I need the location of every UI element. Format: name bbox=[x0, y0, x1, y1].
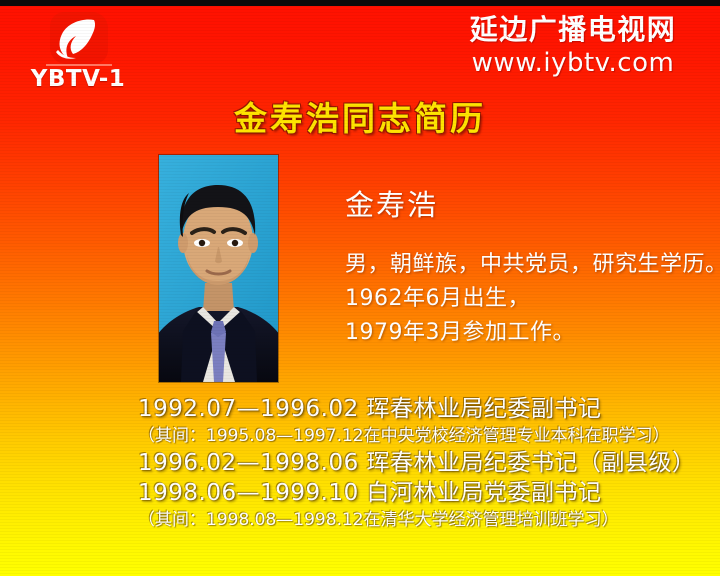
portrait-photo bbox=[159, 155, 278, 382]
career-entry-note: （其间：1995.08—1997.12在中央党校经济管理专业本科在职学习） bbox=[138, 424, 708, 448]
bio-line: 1962年6月出生， bbox=[345, 282, 715, 316]
swoosh-shape-icon bbox=[54, 18, 104, 60]
channel-logo: YBTV-1 bbox=[22, 12, 134, 94]
career-entry: 1996.02—1998.06 珲春林业局纪委书记（副县级） bbox=[138, 448, 708, 478]
bio-line: 男，朝鲜族，中共党员，研究生学历。 bbox=[345, 248, 715, 282]
ybtv-swoosh-logo-icon bbox=[50, 12, 108, 64]
career-history-list: 1992.07—1996.02 珲春林业局纪委副书记 （其间：1995.08—1… bbox=[138, 394, 708, 532]
career-entry: 1998.06—1999.10 白河林业局党委副书记 bbox=[138, 478, 708, 508]
tv-broadcast-frame: YBTV-1 延边广播电视网 www.iybtv.com 金寿浩同志简历 bbox=[0, 0, 720, 576]
top-black-bar bbox=[0, 0, 720, 6]
network-url: www.iybtv.com bbox=[448, 48, 698, 78]
portrait-illustration bbox=[159, 155, 278, 382]
channel-logo-label: YBTV-1 bbox=[22, 66, 134, 92]
bio-block: 男，朝鲜族，中共党员，研究生学历。 1962年6月出生， 1979年3月参加工作… bbox=[345, 248, 715, 350]
network-name-cn: 延边广播电视网 bbox=[448, 14, 698, 46]
bio-line: 1979年3月参加工作。 bbox=[345, 316, 715, 350]
person-name: 金寿浩 bbox=[345, 182, 438, 224]
network-brand: 延边广播电视网 www.iybtv.com bbox=[448, 14, 698, 78]
career-entry-note: （其间：1998.08—1998.12在清华大学经济管理培训班学习） bbox=[138, 508, 708, 532]
career-entry: 1992.07—1996.02 珲春林业局纪委副书记 bbox=[138, 394, 708, 424]
page-title: 金寿浩同志简历 bbox=[0, 92, 720, 140]
